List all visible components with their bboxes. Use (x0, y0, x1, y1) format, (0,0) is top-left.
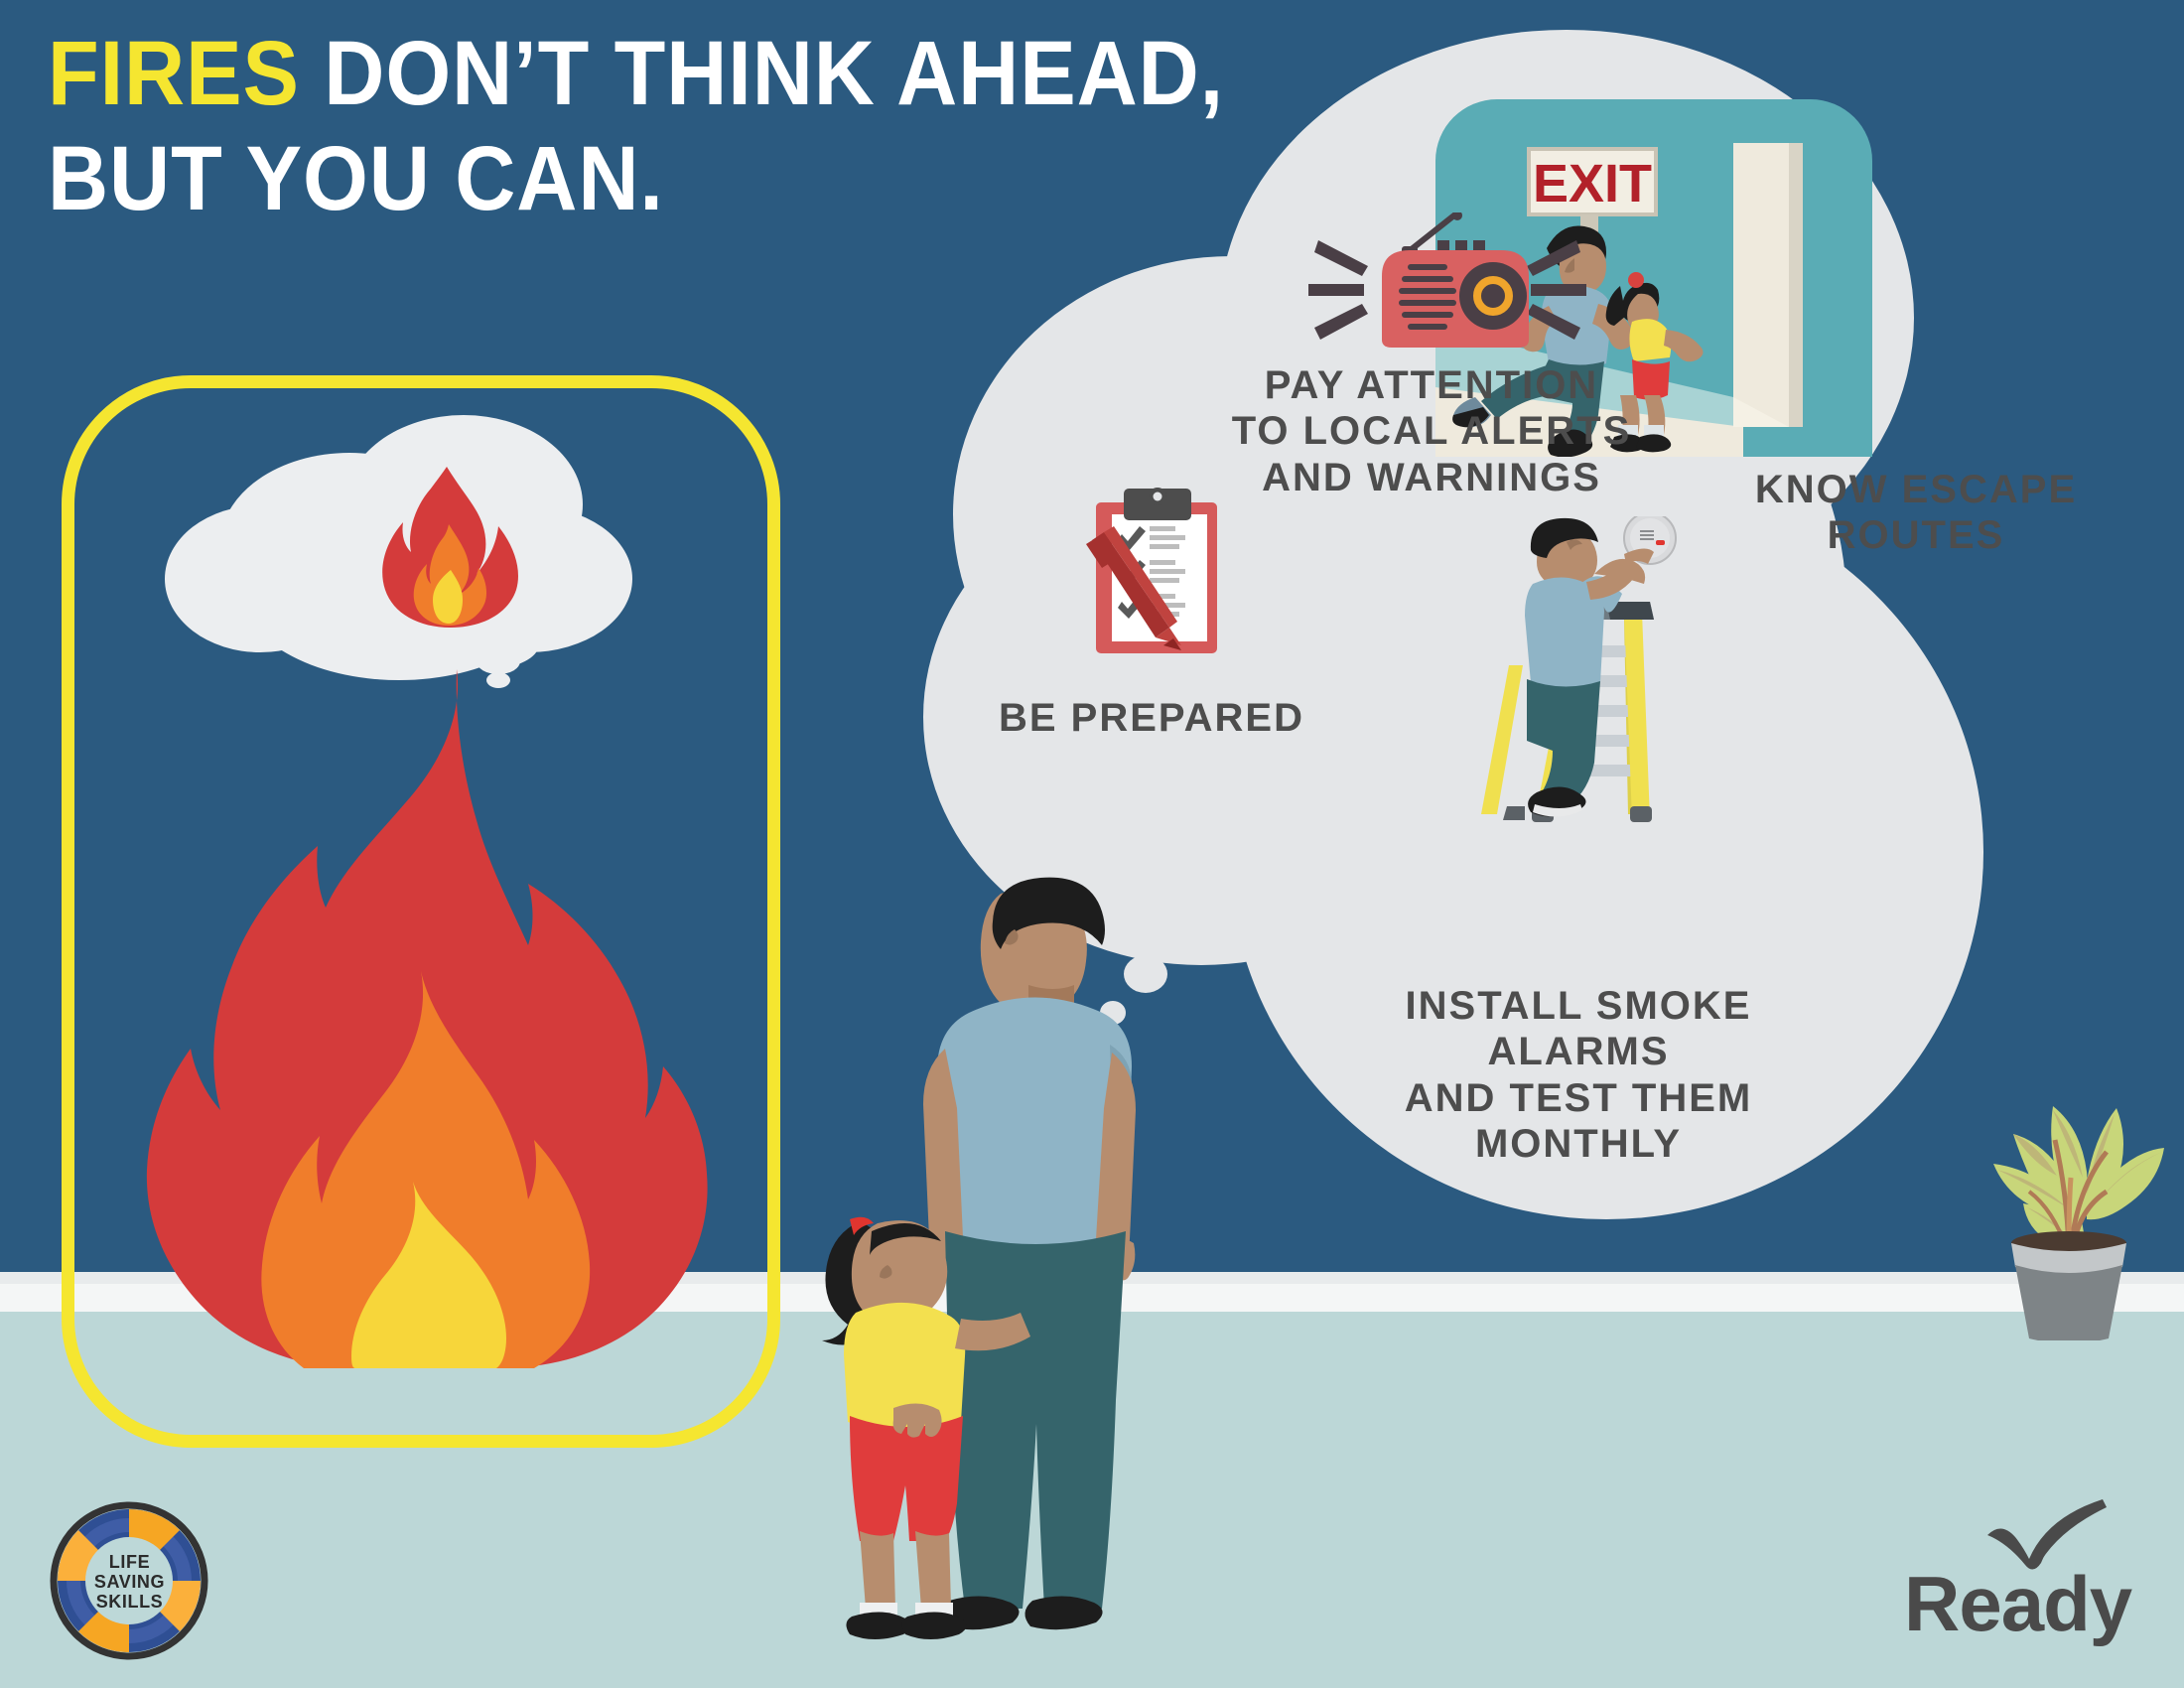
radio-icon (1308, 212, 1586, 361)
potted-plant (1974, 1013, 2184, 1340)
headline-line2: BUT YOU CAN. (48, 133, 1344, 226)
tip-label-smoke-alarms: INSTALL SMOKE ALARMS AND TEST THEM MONTH… (1350, 983, 1807, 1168)
tip-label-escape-routes: KNOW ESCAPE ROUTES (1698, 467, 2134, 559)
headline-line1-rest: DON’T THINK AHEAD, (300, 23, 1224, 124)
tip-label-be-prepared: BE PREPARED (953, 695, 1350, 741)
lss-line1: LIFE (66, 1551, 195, 1571)
lss-line3: SKILLS (66, 1592, 195, 1612)
life-saving-skills-logo: LIFE SAVING SKILLS (38, 1489, 221, 1673)
tip-label-local-alerts: PAY ATTENTION TO LOCAL ALERTS AND WARNIN… (1213, 362, 1650, 500)
fire-illustration (62, 375, 780, 1448)
ready-logo: Ready (1904, 1501, 2162, 1650)
life-saving-skills-text: LIFE SAVING SKILLS (66, 1551, 195, 1611)
infographic-canvas: FIRES DON’T THINK AHEAD, BUT YOU CAN. (0, 0, 2184, 1688)
large-flame-icon (147, 669, 708, 1368)
ready-wordmark: Ready (1904, 1559, 2131, 1649)
lss-line2: SAVING (66, 1571, 195, 1591)
father-and-daughter-figures (794, 874, 1191, 1668)
exit-sign-text: EXIT (1533, 154, 1652, 213)
page-title: FIRES DON’T THINK AHEAD, BUT YOU CAN. (48, 28, 1344, 226)
plant-leaves (1993, 1106, 2164, 1251)
clipboard-checklist-pen-icon (1040, 483, 1289, 701)
plant-pot (2011, 1231, 2126, 1340)
man-on-ladder-smoke-alarm-icon (1430, 516, 1747, 973)
headline-highlight-word: FIRES (48, 23, 300, 124)
